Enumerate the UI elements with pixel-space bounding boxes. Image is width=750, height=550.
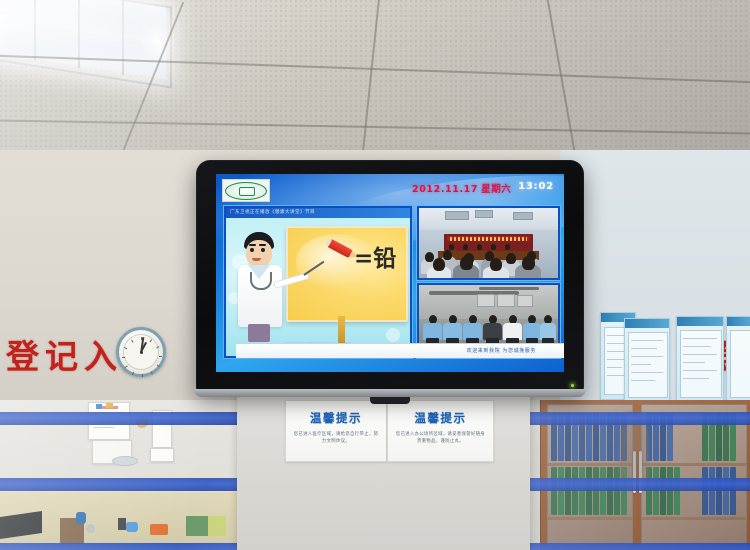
wall-notice-small	[150, 448, 174, 462]
ceiling-shading	[0, 0, 750, 165]
notice-board	[624, 318, 670, 402]
support-pillar: 温馨提示 您已进入医疗区域，请给您自行带止，努力文明体议。 温馨提示 您已进入办…	[237, 392, 530, 550]
video-banner-text: 广东卫视正在播放《健康大讲堂》节目	[226, 208, 410, 218]
poster-body: 您已进入办公场所区域，请妥善保管好随身贵重物品，谨防止丸。	[388, 431, 493, 446]
whiteboard-stand	[338, 316, 345, 344]
signage-clock: 13:02	[518, 181, 554, 192]
notice-board	[676, 316, 724, 402]
ceiling	[0, 0, 750, 165]
whiteboard-equation: =铅	[354, 248, 396, 271]
poster-title: 温馨提示	[388, 410, 493, 426]
photo-panel-meeting[interactable]	[416, 205, 561, 281]
stethoscope-icon	[250, 272, 272, 290]
cabinet-glass-door[interactable]	[641, 404, 747, 546]
cartoon-doctor	[234, 232, 286, 342]
poster-right: 温馨提示 您已进入办公场所区域，请妥善保管好随身贵重物品，谨防止丸。	[387, 400, 494, 462]
tv-screen[interactable]: 2012.11.17星期六 13:02 广东卫视正在播放《健康大讲堂》节目 =铅	[216, 174, 564, 372]
scrolling-ticker-bar: 欢迎来到我院 为您诚挽服务	[236, 343, 564, 358]
cartoon-health-video: 广东卫视正在播放《健康大讲堂》节目 =铅	[226, 208, 410, 356]
digital-signage-display[interactable]: 2012.11.17星期六 13:02 广东卫视正在播放《健康大讲堂》节目 =铅	[196, 160, 584, 394]
power-led-indicator	[571, 384, 574, 387]
ticker-text: 欢迎来到我院 为您诚挽服务	[467, 347, 536, 354]
institution-emblem-icon	[222, 179, 270, 202]
wall-clock	[116, 327, 166, 377]
notice-board	[726, 316, 750, 402]
clock-center-pin	[140, 351, 143, 354]
tv-bottom-trim	[194, 389, 586, 397]
photo-scene: 登记入册 登·	[0, 0, 750, 550]
weekday-text: 星期六	[481, 184, 511, 195]
date-text: 2012.11.17	[412, 184, 478, 195]
poster-title: 温馨提示	[286, 410, 386, 426]
video-panel-main[interactable]: 广东卫视正在播放《健康大讲堂》节目 =铅	[223, 205, 413, 359]
signage-date: 2012.11.17星期六	[412, 181, 511, 195]
poster-body: 您已进入医疗区域，请给您自行带止，努力文明体议。	[286, 431, 386, 446]
meeting-room-photo	[419, 208, 558, 278]
poster-left: 温馨提示 您已进入医疗区域，请给您自行带止，努力文明体议。	[285, 400, 387, 462]
